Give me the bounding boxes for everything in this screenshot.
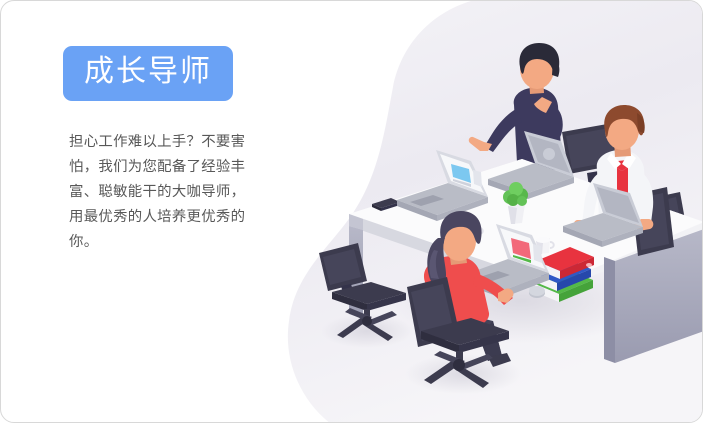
text-column: 成长导师 担心工作难以上手？不要害怕，我们为您配备了经验丰富、聪敏能干的大咖导师… (63, 46, 273, 255)
page-title-badge: 成长导师 (63, 46, 233, 101)
description-paragraph: 担心工作难以上手？不要害怕，我们为您配备了经验丰富、聪敏能干的大咖导师，用最优秀… (69, 130, 249, 255)
growth-mentor-banner-card: 成长导师 担心工作难以上手？不要害怕，我们为您配备了经验丰富、聪敏能干的大咖导师… (0, 0, 703, 423)
computer-mouse (529, 286, 545, 298)
